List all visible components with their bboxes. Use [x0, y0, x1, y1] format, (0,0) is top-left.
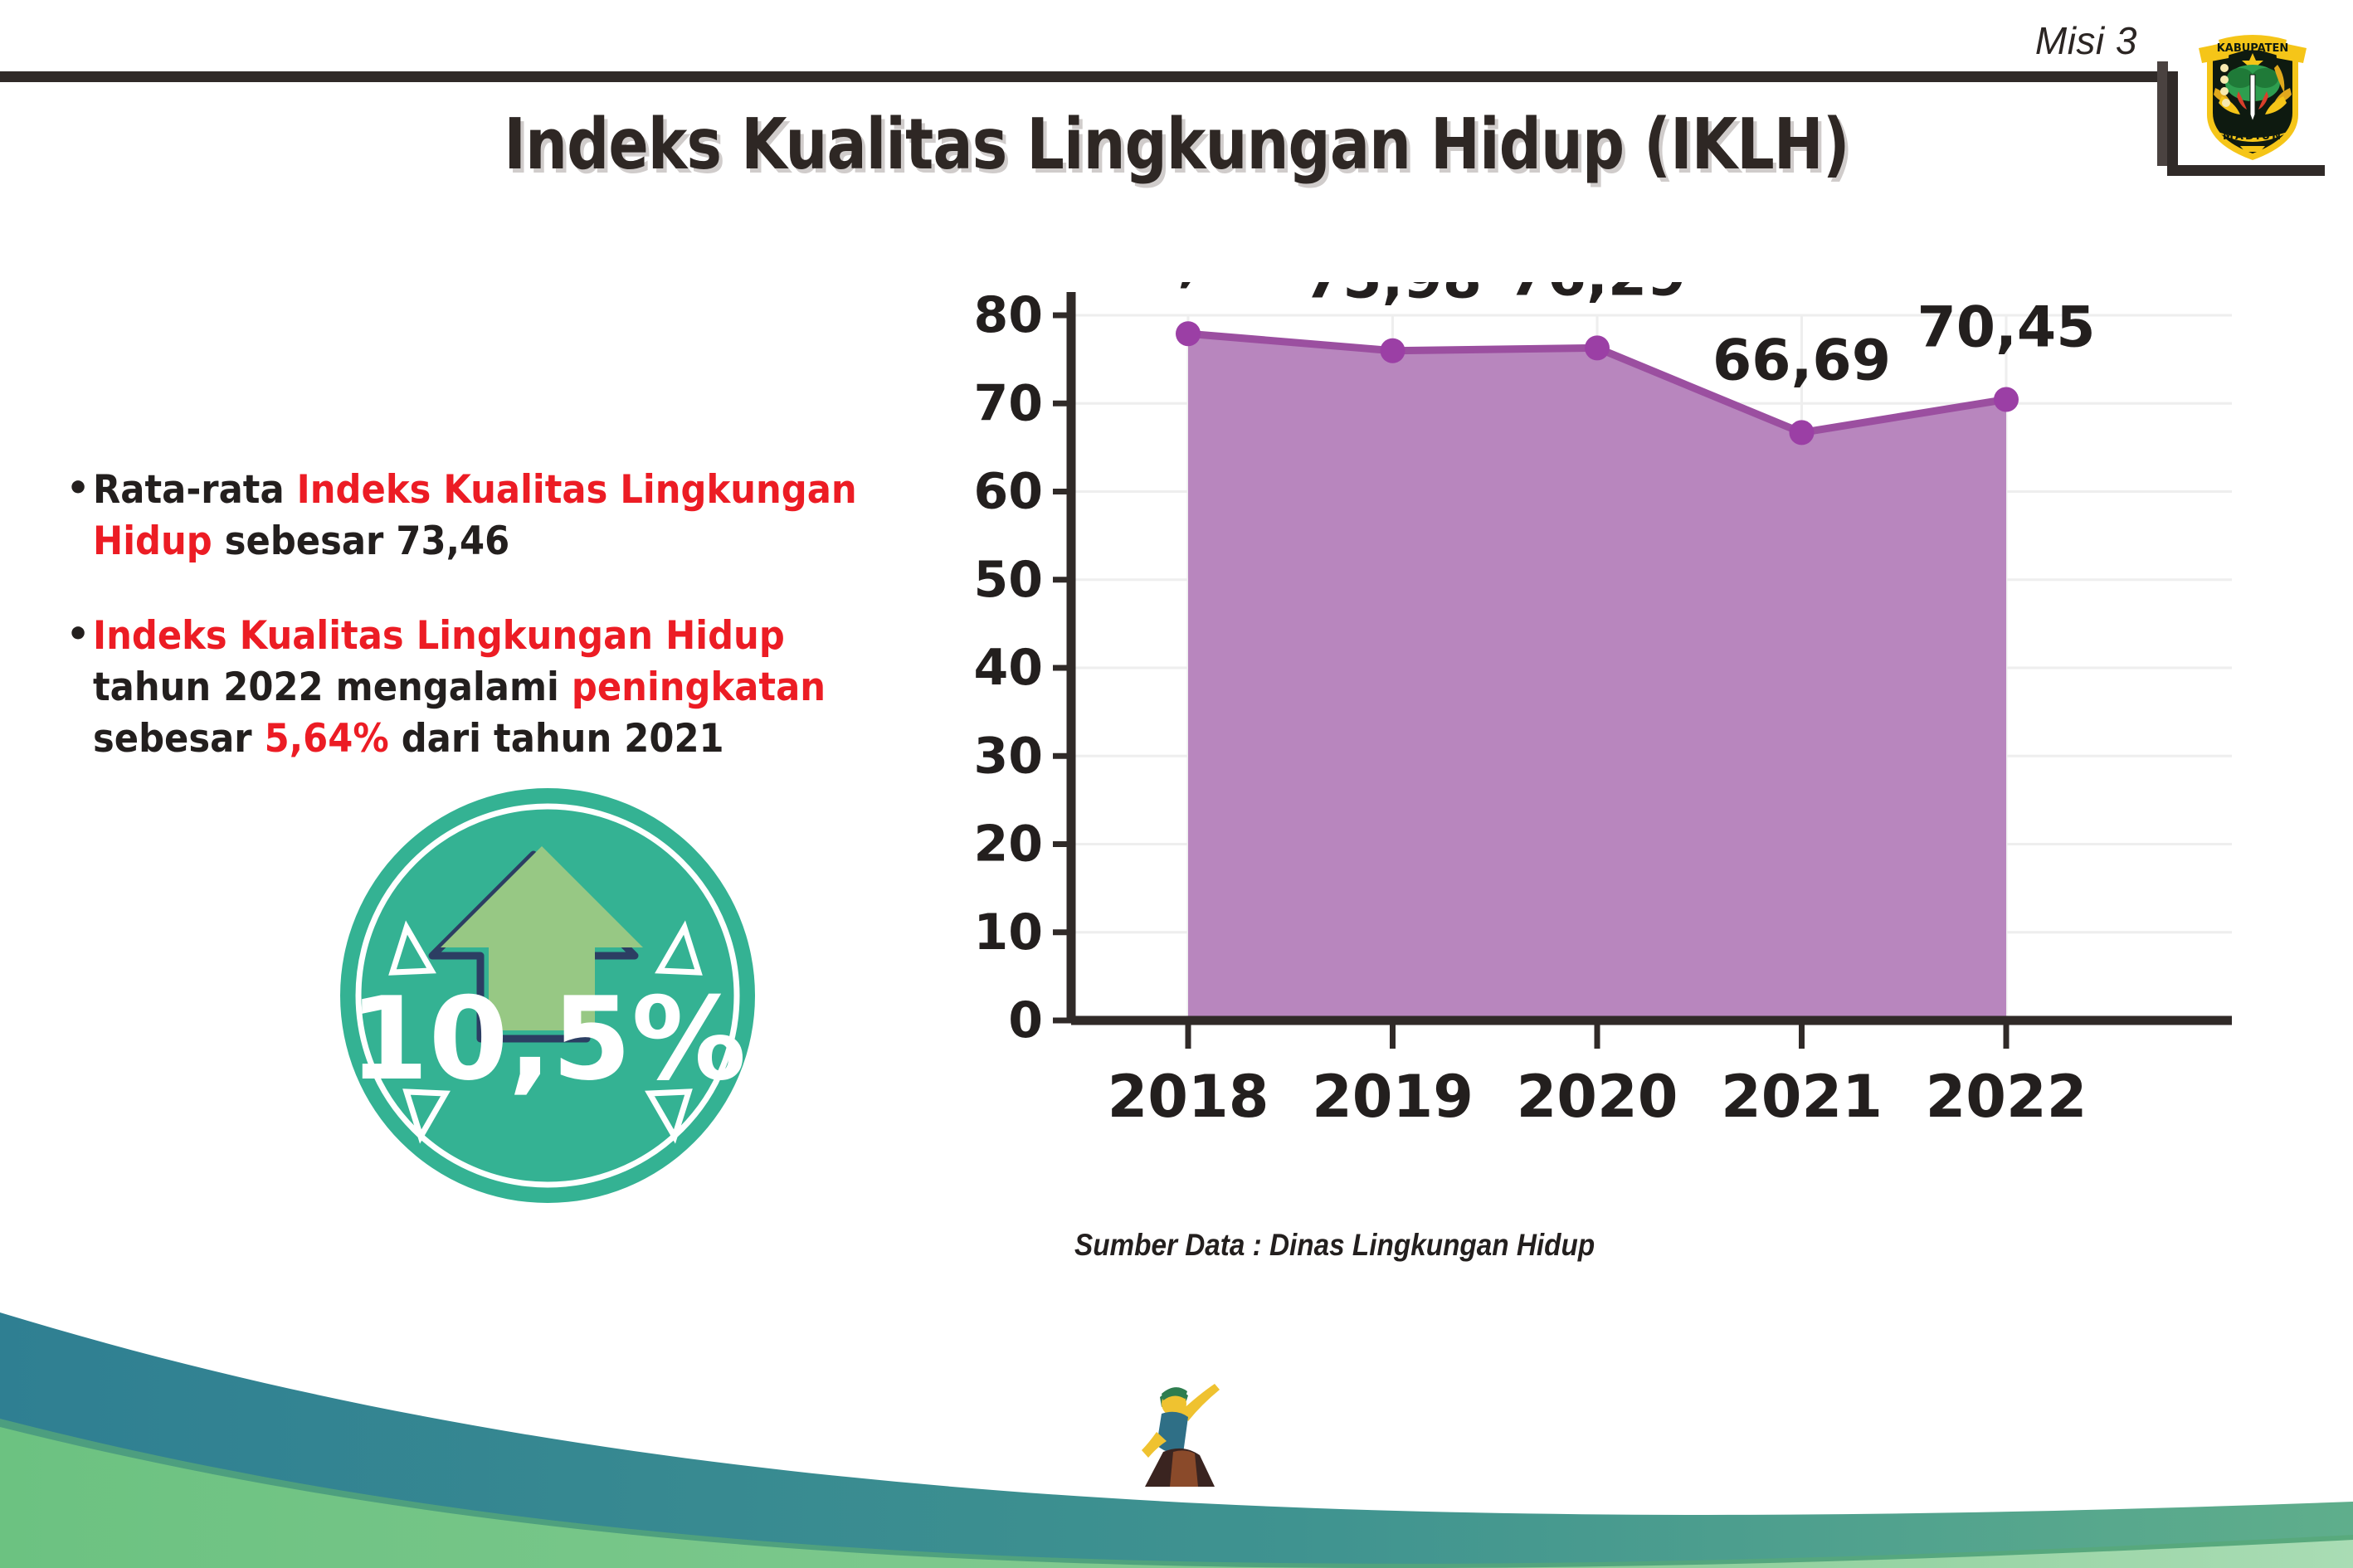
- svg-text:20: 20: [974, 816, 1044, 874]
- header-rule: [0, 71, 2167, 82]
- footer-banner: Media Infografis Data Statistik Sektoral…: [0, 1294, 2353, 1568]
- footer-text: Media Infografis Data Statistik Sektoral…: [1224, 1430, 2286, 1475]
- list-item-text: Indeks Kualitas Lingkungan Hidup tahun 2…: [93, 611, 893, 765]
- increase-badge: 10,5%: [328, 747, 776, 1211]
- media-infografis-figure-icon: [1137, 1376, 1228, 1492]
- svg-text:75,98: 75,98: [1303, 282, 1482, 312]
- svg-text:0: 0: [1008, 991, 1043, 1049]
- svg-text:77,91: 77,91: [1099, 282, 1277, 295]
- plain-phrase: sebesar: [93, 716, 265, 762]
- chart-area-fill: [1188, 334, 2006, 1020]
- svg-text:2019: 2019: [1312, 1063, 1474, 1131]
- plain-phrase: sebesar 73,46: [212, 519, 509, 564]
- list-item-text: Rata-rata Indeks Kualitas Lingkungan Hid…: [93, 465, 893, 567]
- svg-text:80: 80: [974, 286, 1044, 344]
- bullet-dot: •: [66, 611, 90, 659]
- plain-phrase: tahun 2022 mengalami: [93, 665, 572, 710]
- svg-text:MADIUN: MADIUN: [2223, 130, 2282, 143]
- svg-text:50: 50: [974, 551, 1044, 609]
- kabupaten-madiun-emblem-icon: KABUPATEN MADIUN: [2190, 23, 2315, 166]
- svg-text:2021: 2021: [1721, 1063, 1883, 1131]
- svg-text:40: 40: [974, 639, 1044, 697]
- plain-phrase: Rata-rata: [93, 467, 297, 513]
- logo-bracket-vertical: [2167, 71, 2178, 176]
- chart-source-caption: Sumber Data : Dinas Lingkungan Hidup: [1074, 1228, 1595, 1263]
- logo-bracket-horizontal: [2167, 165, 2325, 176]
- misi-label: Misi 3: [2035, 18, 2137, 63]
- svg-text:2022: 2022: [1926, 1063, 2087, 1131]
- chart-x-tick-labels: 20182019202020212022: [1108, 1063, 2087, 1131]
- svg-text:10: 10: [974, 903, 1044, 962]
- svg-text:30: 30: [974, 727, 1044, 785]
- chart-y-tick-labels: 01020304050607080: [974, 286, 1044, 1049]
- list-item: • Rata-rata Indeks Kualitas Lingkungan H…: [66, 465, 962, 567]
- list-item: • Indeks Kualitas Lingkungan Hidup tahun…: [66, 611, 962, 765]
- bullet-dot: •: [66, 465, 90, 513]
- svg-text:66,69: 66,69: [1712, 328, 1891, 393]
- infographic-slide: Misi 3 KABUPATEN: [0, 0, 2353, 1568]
- svg-text:76,29: 76,29: [1508, 282, 1686, 309]
- svg-text:2018: 2018: [1108, 1063, 1269, 1131]
- svg-text:KABUPATEN: KABUPATEN: [2217, 42, 2289, 55]
- highlighted-phrase: peningkatan: [572, 665, 826, 710]
- highlighted-phrase: Indeks Kualitas Lingkungan Hidup: [93, 613, 785, 659]
- svg-text:70,45: 70,45: [1917, 295, 2095, 360]
- svg-text:70: 70: [974, 374, 1044, 432]
- svg-text:60: 60: [974, 463, 1044, 521]
- page-title: Indeks Kualitas Lingkungan Hidup (IKLH): [188, 104, 2165, 186]
- badge-value-text: 10,5%: [349, 972, 747, 1106]
- svg-text:2020: 2020: [1517, 1063, 1678, 1131]
- iklh-area-chart: 01020304050607080 20182019202020212022 7…: [971, 282, 2265, 1195]
